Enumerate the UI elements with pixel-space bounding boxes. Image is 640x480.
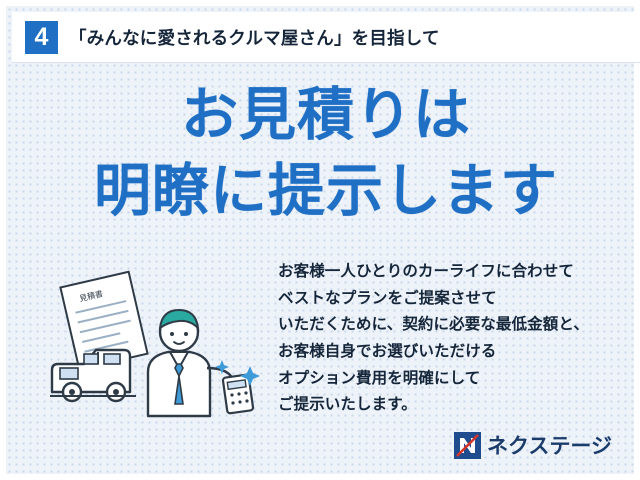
illustration-salesman-van: 見積書 [44, 264, 276, 429]
promo-banner: 4 「みんなに愛されるクルマ屋さん」を目指して お見積りは 明瞭に提示します お… [0, 0, 640, 480]
step-number-badge: 4 [25, 21, 58, 54]
body-copy-line: ベストなプランをご提案させて [278, 286, 628, 313]
body-copy-line: ご提示いたします。 [278, 392, 628, 419]
brand-logo: ネクステージ [454, 430, 612, 460]
header-title: 「みんなに愛されるクルマ屋さん」を目指して [69, 25, 440, 50]
salesman-icon [148, 310, 260, 416]
header-bar: 4 「みんなに愛されるクルマ屋さん」を目指して [12, 12, 640, 62]
van-icon [50, 350, 136, 401]
headline-line-1: お見積りは [6, 84, 640, 148]
body-copy: お客様一人ひとりのカーライフに合わせて ベストなプランをご提案させて いただくた… [278, 259, 628, 419]
brand-logo-text: ネクステージ [487, 430, 612, 460]
body-copy-line: いただくために、契約に必要な最低金額と、 [278, 312, 628, 339]
body-copy-line: お客様一人ひとりのカーライフに合わせて [278, 259, 628, 286]
body-copy-line: オプション費用を明確にして [278, 366, 628, 393]
headline: お見積りは 明瞭に提示します [6, 84, 640, 224]
headline-line-2: 明瞭に提示します [6, 160, 640, 224]
header-divider [12, 62, 640, 63]
n-logo-icon [454, 432, 481, 459]
body-copy-line: お客様自身でお選びいただける [278, 339, 628, 366]
